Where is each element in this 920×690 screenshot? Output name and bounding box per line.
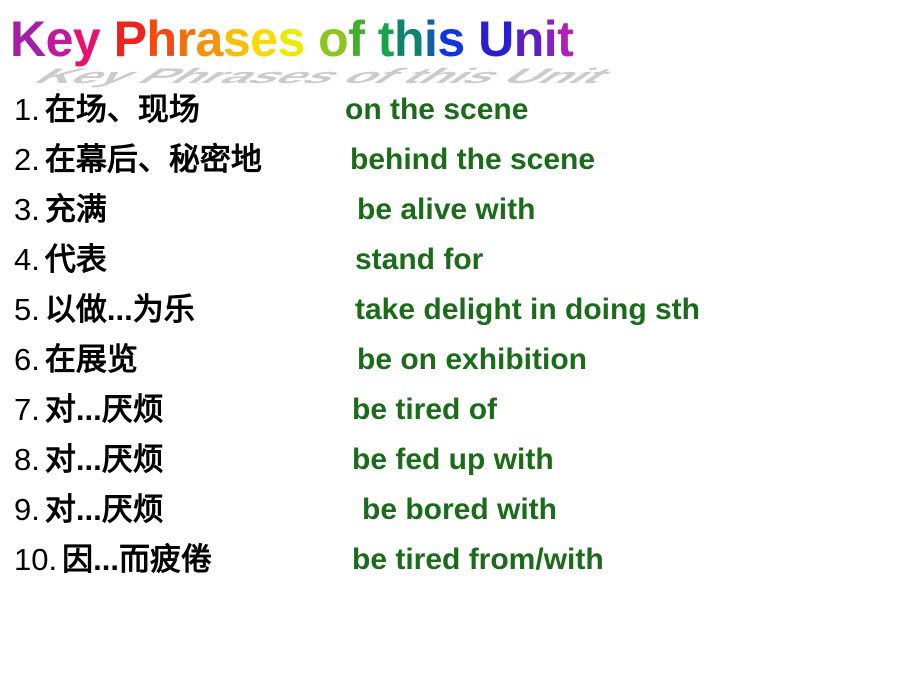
phrase-chinese: 2.在幕后、秘密地 (14, 138, 262, 182)
phrase-number: 4. (14, 238, 40, 282)
phrase-english: be fed up with (352, 438, 554, 482)
phrase-row: 7.对...厌烦be tired of (0, 388, 920, 438)
phrase-chinese: 7.对...厌烦 (14, 388, 164, 432)
phrase-row: 10.因...而疲倦be tired from/with (0, 538, 920, 588)
phrase-english: be tired of (352, 388, 497, 432)
title-letter: i (424, 10, 437, 68)
phrase-chinese-text: 在场、现场 (45, 88, 200, 132)
phrase-chinese: 8.对...厌烦 (14, 438, 164, 482)
phrase-chinese-text: 充满 (45, 188, 107, 232)
title-letter: s (277, 10, 304, 68)
phrase-chinese-text: 在展览 (45, 338, 138, 382)
phrase-row: 5.以做...为乐take delight in doing sth (0, 288, 920, 338)
phrase-number: 8. (14, 438, 40, 482)
title-letter: a (196, 10, 223, 68)
page-title: Key Phrases of this Unit Key Phrases of … (10, 4, 910, 82)
phrase-list: 1.在场、现场on the scene2.在幕后、秘密地behind the s… (0, 88, 920, 588)
phrase-number: 5. (14, 288, 40, 332)
phrase-chinese: 4.代表 (14, 238, 107, 282)
phrase-chinese: 10.因...而疲倦 (14, 538, 212, 582)
phrase-english: be on exhibition (357, 338, 587, 382)
phrase-row: 2.在幕后、秘密地behind the scene (0, 138, 920, 188)
title-letter: K (10, 10, 46, 68)
phrase-number: 9. (14, 488, 40, 532)
phrase-row: 9.对...厌烦be bored with (0, 488, 920, 538)
phrase-english: be tired from/with (352, 538, 604, 582)
phrase-number: 3. (14, 188, 40, 232)
phrase-row: 4.代表stand for (0, 238, 920, 288)
title-letter (364, 10, 377, 68)
title-letter (465, 10, 478, 68)
title-letter: s (223, 10, 250, 68)
title-letter: s (437, 10, 464, 68)
phrase-chinese: 3.充满 (14, 188, 107, 232)
phrase-english: be alive with (357, 188, 535, 232)
title-letter: i (544, 10, 557, 68)
title-letter: f (348, 10, 364, 68)
title-letter: n (514, 10, 544, 68)
title-letter: r (177, 10, 196, 68)
phrase-english: stand for (355, 238, 483, 282)
phrase-chinese: 5.以做...为乐 (14, 288, 195, 332)
phrase-chinese-text: 对...厌烦 (45, 438, 164, 482)
title-letter: o (318, 10, 348, 68)
phrase-row: 8.对...厌烦be fed up with (0, 438, 920, 488)
phrase-number: 6. (14, 338, 40, 382)
slide-canvas: Key Phrases of this Unit Key Phrases of … (0, 0, 920, 690)
phrase-chinese: 6.在展览 (14, 338, 138, 382)
phrase-chinese-text: 在幕后、秘密地 (45, 138, 262, 182)
title-letter: e (46, 10, 73, 68)
phrase-row: 6.在展览be on exhibition (0, 338, 920, 388)
title-letter: U (478, 10, 514, 68)
phrase-chinese-text: 代表 (45, 238, 107, 282)
title-letter: y (73, 10, 100, 68)
phrase-chinese-text: 对...厌烦 (45, 488, 164, 532)
phrase-chinese-text: 以做...为乐 (45, 288, 195, 332)
phrase-number: 2. (14, 138, 40, 182)
title-letter: h (394, 10, 424, 68)
title-letter: e (250, 10, 277, 68)
phrase-english: take delight in doing sth (355, 288, 700, 332)
phrase-chinese-text: 因...而疲倦 (62, 538, 212, 582)
title-letter: P (114, 10, 147, 68)
title-text: Key Phrases of this Unit (10, 10, 573, 68)
title-letter: t (557, 10, 573, 68)
title-letter (100, 10, 113, 68)
phrase-number: 1. (14, 88, 40, 132)
title-letter (305, 10, 318, 68)
title-letter: h (147, 10, 177, 68)
phrase-row: 1.在场、现场on the scene (0, 88, 920, 138)
phrase-chinese-text: 对...厌烦 (45, 388, 164, 432)
phrase-english: behind the scene (350, 138, 595, 182)
phrase-english: on the scene (345, 88, 528, 132)
phrase-chinese: 1.在场、现场 (14, 88, 200, 132)
phrase-row: 3.充满be alive with (0, 188, 920, 238)
title-letter: t (378, 10, 394, 68)
phrase-chinese: 9.对...厌烦 (14, 488, 164, 532)
phrase-number: 7. (14, 388, 40, 432)
phrase-english: be bored with (362, 488, 557, 532)
phrase-number: 10. (14, 538, 57, 582)
